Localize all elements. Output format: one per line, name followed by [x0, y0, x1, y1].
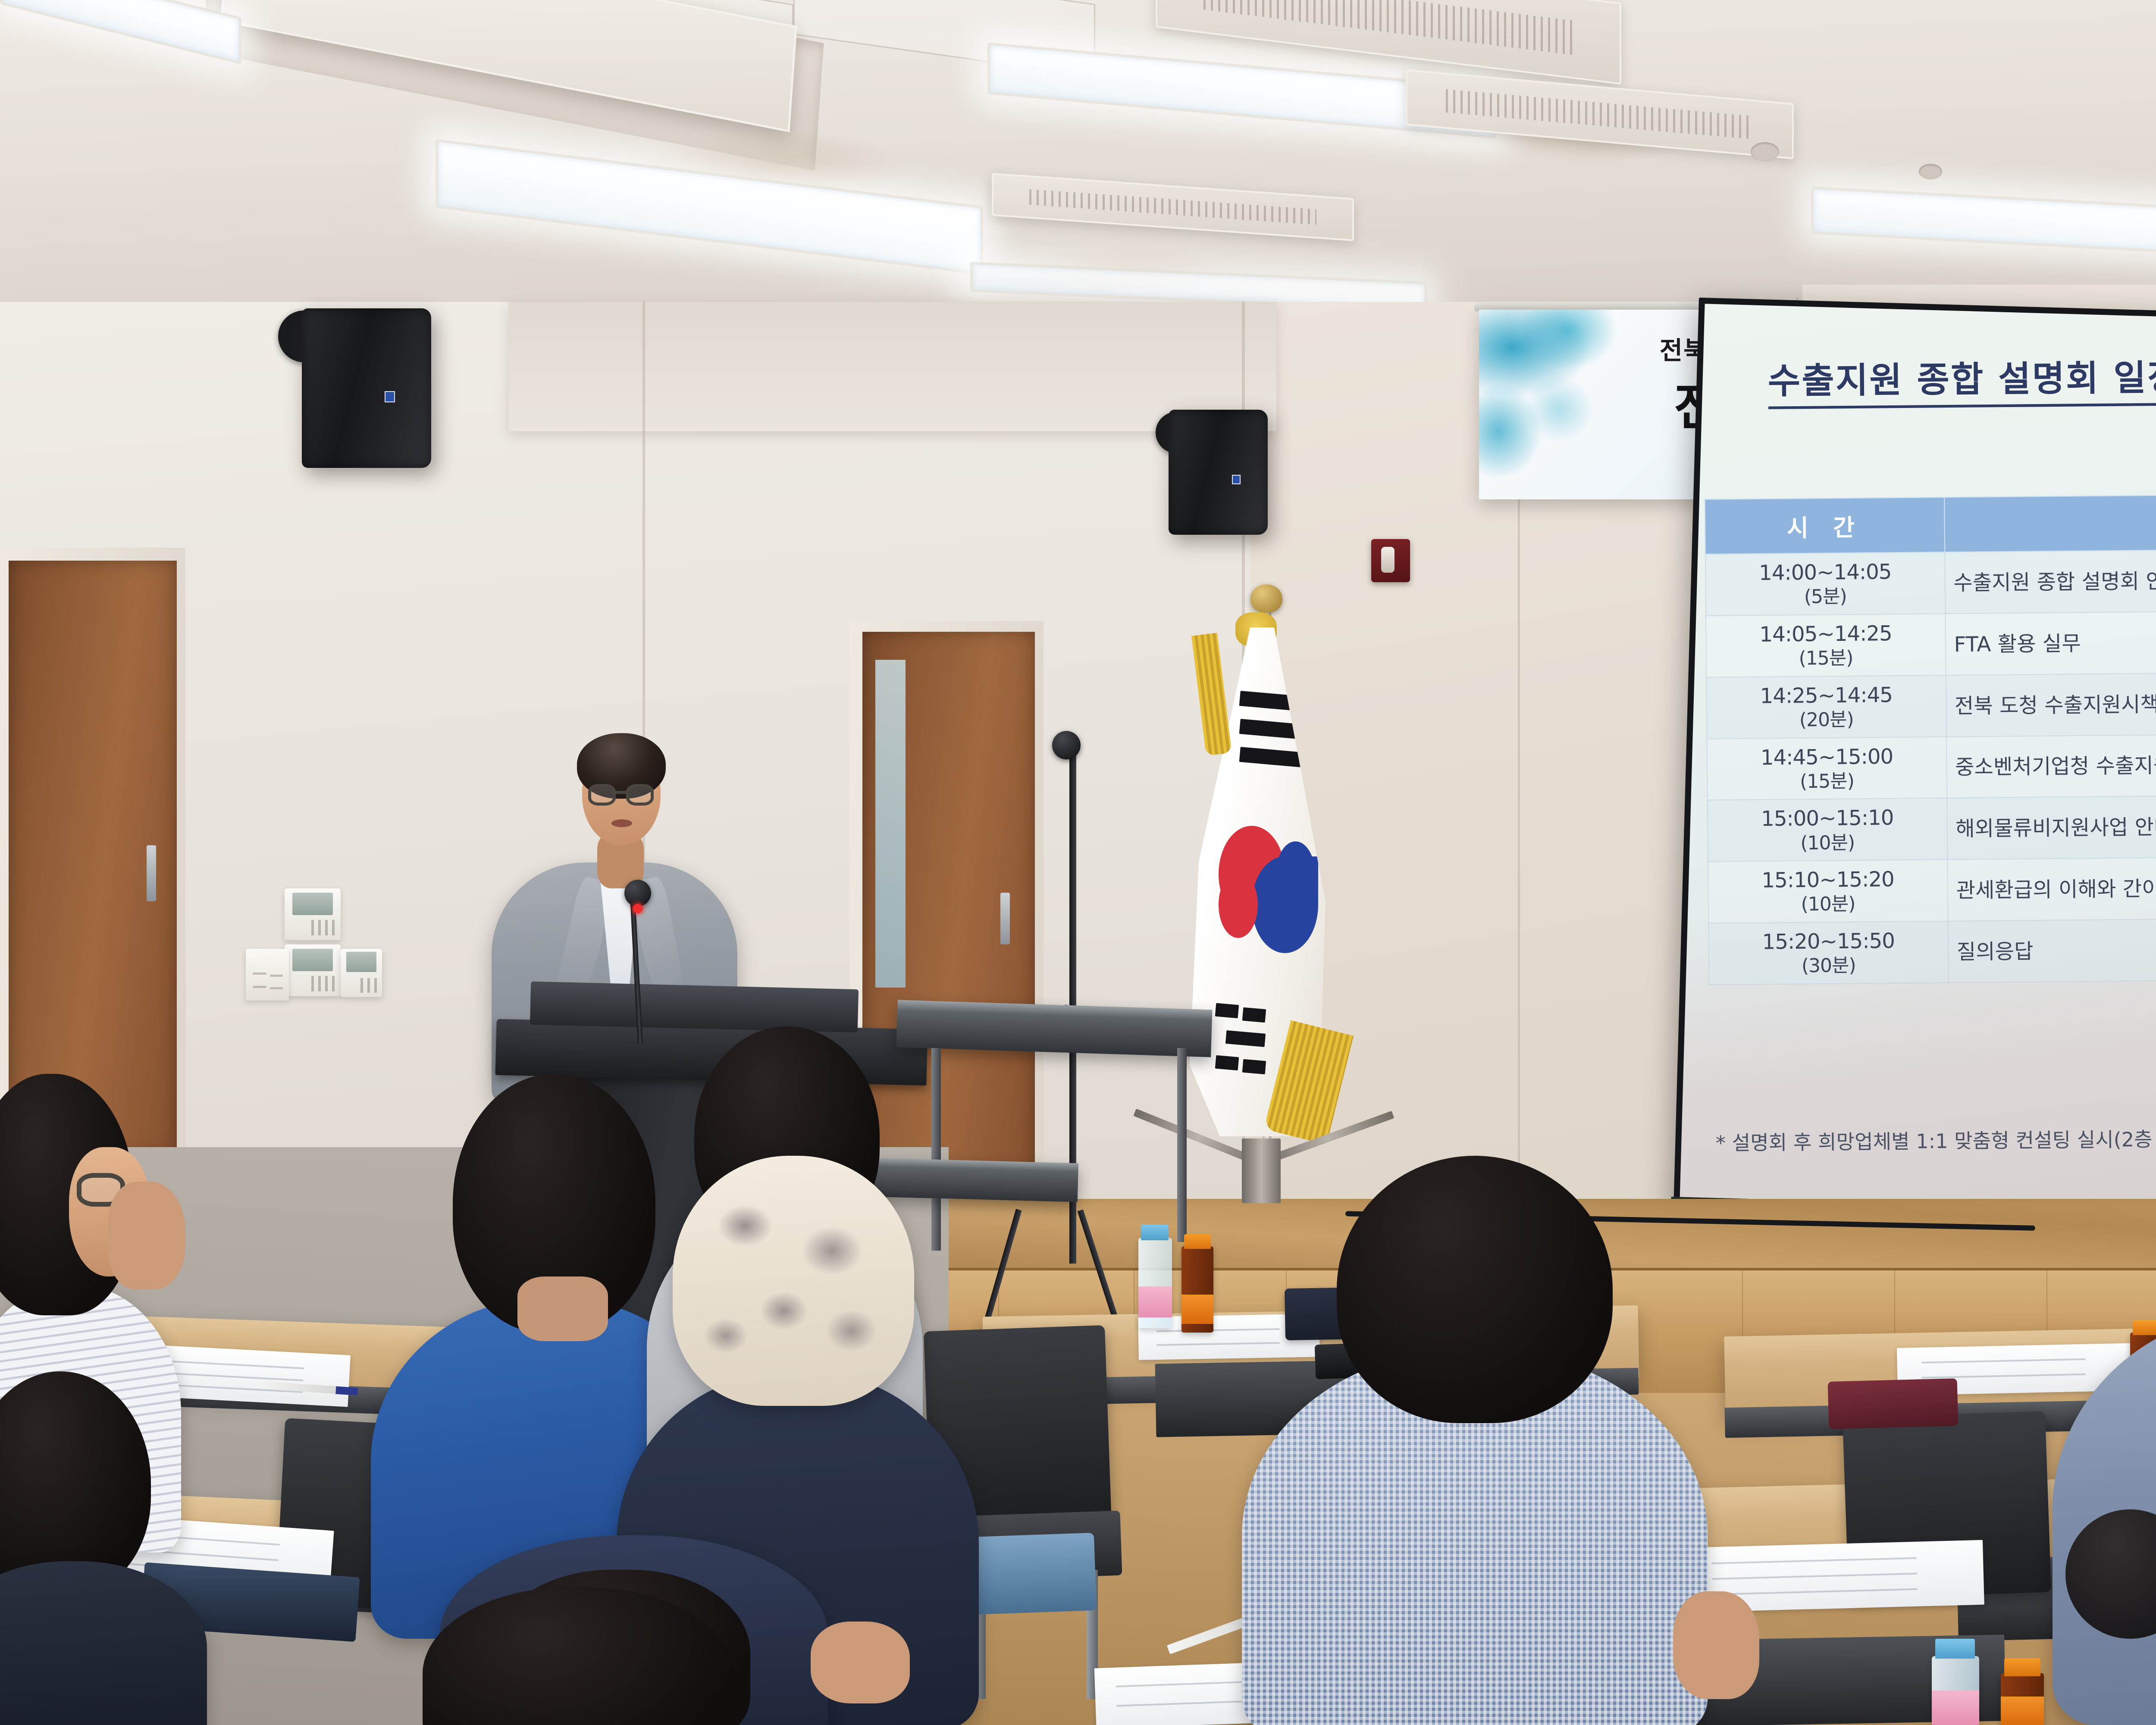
- table-row: 15:00~15:10 (10분) 해외물류비지원사업 안내: [1708, 793, 2156, 862]
- flag-trigram-gam: [1215, 1003, 1238, 1018]
- flag-trigram-gam: [1242, 1059, 1266, 1074]
- bottle-cap: [1935, 1639, 1975, 1659]
- audience-member-hand: [811, 1621, 910, 1703]
- speaker-brand-logo: [1232, 475, 1241, 484]
- thermostat-upper[interactable]: [285, 888, 341, 940]
- flag-finial: [1250, 584, 1282, 613]
- water-bottle[interactable]: [1138, 1238, 1172, 1328]
- cell-content: FTA 활용 실무: [1945, 609, 2156, 675]
- light-switch-plate[interactable]: [246, 949, 289, 1000]
- bottle-cap: [2004, 1658, 2040, 1676]
- fire-alarm-pull-station[interactable]: [1371, 539, 1410, 582]
- mic-head-stand: [1052, 731, 1081, 759]
- projection-screen: 수출지원 종합 설명회 일정표 시 간 내 용 14:00~14:05: [1673, 298, 2156, 1237]
- pa-speaker: [1169, 410, 1268, 535]
- cell-content: 전북 도청 수출지원시책 안내: [1946, 671, 2156, 737]
- cell-content: 중소벤처기업청 수출지원시책 안내: [1946, 732, 2156, 798]
- ceiling-soffit: [509, 302, 1276, 431]
- presenter-glasses-left-lens: [588, 784, 616, 806]
- flag-trigram-gam: [1215, 1055, 1238, 1070]
- flag-trigram-geon: [1239, 747, 1302, 768]
- table-row: 14:45~15:00 (15분) 중소벤처기업청 수출지원시책 안내 (중: [1707, 731, 2156, 800]
- orange-drink-bottle[interactable]: [2001, 1673, 2044, 1725]
- presenter-glasses-bridge: [616, 791, 626, 794]
- cell-content: 수출지원 종합 설명회 안내: [1945, 548, 2156, 614]
- cell-time: 15:20~15:50 (30분): [1709, 921, 1949, 985]
- thermostat-side[interactable]: [341, 949, 382, 997]
- table-row: 15:20~15:50 (30분) 질의응답: [1709, 916, 2156, 985]
- table-row: 14:05~14:25 (15분) FTA 활용 실무 임: [1706, 608, 2156, 677]
- sprinkler-head: [1919, 164, 1942, 179]
- cell-time: 15:10~15:20 (10분): [1708, 859, 1948, 923]
- audience-member-floral-hat: [673, 1156, 914, 1406]
- podium-mic-head: [624, 880, 651, 906]
- cell-content: 해외물류비지원사업 안내: [1947, 793, 2156, 859]
- side-table-leg: [931, 1048, 941, 1251]
- schedule-table: 시 간 내 용 14:00~14:05 (5분) 수출지원 종합 설명회 안내: [1705, 491, 2156, 985]
- audience-member-hand: [108, 1182, 185, 1289]
- table-row: 15:10~15:20 (10분) 관세환급의 이해와 간이정액환급 신청 방법: [1708, 854, 2156, 923]
- slide-footnote: * 설명회 후 희망업체별 1:1 맞춤형 컨설팅 실시(2층 상담실): [1716, 1122, 2156, 1155]
- col-header-content: 내 용: [1944, 493, 2156, 552]
- flag-taeguk-blue: [1276, 841, 1315, 907]
- red-pouch[interactable]: [1828, 1378, 1959, 1429]
- col-header-time: 시 간: [1705, 497, 1945, 554]
- table-header-row: 시 간 내 용: [1705, 492, 2156, 554]
- audience-member-hand: [1673, 1591, 1759, 1699]
- slide-content: 수출지원 종합 설명회 일정표 시 간 내 용 14:00~14:05: [1680, 304, 2156, 1222]
- cell-content: 관세환급의 이해와 간이정액환급 신청 방법: [1947, 855, 2156, 921]
- wall-seam: [1518, 483, 1520, 1199]
- door-handle-center[interactable]: [1000, 893, 1010, 944]
- pa-speaker: [302, 308, 431, 468]
- podium-shelf: [530, 982, 859, 1033]
- door-handle-left[interactable]: [147, 845, 156, 901]
- thermostat-lower[interactable]: [285, 944, 341, 996]
- cell-content: 질의응답: [1948, 916, 2156, 982]
- presenter-glasses-right-lens: [626, 784, 654, 806]
- projected-slide-area: 수출지원 종합 설명회 일정표 시 간 내 용 14:00~14:05: [1680, 304, 2156, 1222]
- presenter-mouth: [611, 819, 632, 827]
- bottle-cap: [2133, 1320, 2156, 1335]
- table-row: 14:25~14:45 (20분) 전북 도청 수출지원시책 안내 (전: [1707, 669, 2156, 739]
- cell-time: 14:05~14:25 (15분): [1706, 614, 1946, 677]
- flag-taeguk-red: [1219, 872, 1258, 938]
- table-row: 14:00~14:05 (5분) 수출지원 종합 설명회 안내: [1705, 546, 2156, 616]
- audience-member-neck: [517, 1276, 608, 1341]
- slide-title: 수출지원 종합 설명회 일정표: [1767, 346, 2156, 404]
- cell-time: 14:45~15:00 (15분): [1707, 737, 1947, 800]
- audience-member-head: [1337, 1156, 1613, 1423]
- bottle-cap: [1184, 1234, 1211, 1249]
- flag-trigram-gam: [1242, 1007, 1266, 1022]
- cell-time: 14:00~14:05 (5분): [1705, 552, 1945, 615]
- door-window-center: [875, 660, 906, 988]
- orange-drink-bottle[interactable]: [1181, 1246, 1213, 1333]
- cell-time: 15:00~15:10 (10분): [1708, 798, 1947, 862]
- flag-trigram-gam: [1225, 1030, 1266, 1047]
- speaker-brand-logo: [385, 391, 395, 402]
- flag-stand-leg: [1242, 1138, 1281, 1203]
- mic-power-led: [633, 904, 642, 913]
- sprinkler-head: [1751, 142, 1779, 161]
- bottle-cap: [1141, 1225, 1169, 1240]
- side-table: [896, 1000, 1212, 1057]
- side-table-leg: [1177, 1048, 1187, 1242]
- seminar-room-photo: 전북 도청 전북 수출지원 종합 설명회 일정표 시 간 내 용: [0, 0, 2156, 1725]
- water-bottle[interactable]: [1932, 1656, 1979, 1725]
- cell-time: 14:25~14:45 (20분): [1707, 675, 1946, 738]
